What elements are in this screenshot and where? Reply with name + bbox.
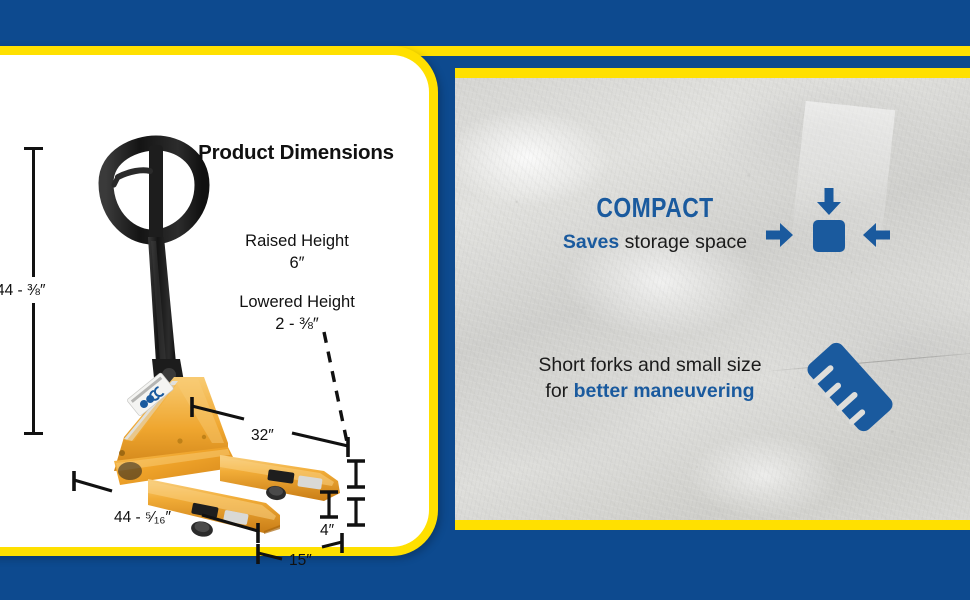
- raised-height-value: 6″: [204, 253, 390, 275]
- product-dimensions-card: 44 - ⅜″: [0, 46, 438, 556]
- feature-maneuvering-highlight: better maneuvering: [574, 380, 755, 402]
- lowered-height-value: 2 - ⅜″: [204, 314, 390, 336]
- feature-maneuvering: Short forks and small size for better ma…: [500, 352, 800, 405]
- feature-panel: [455, 68, 970, 530]
- feature-compact-subtext: Saves storage space: [510, 231, 800, 254]
- page-title: Product Dimensions: [176, 141, 416, 165]
- compact-arrows-icon: [766, 188, 890, 280]
- ruler-icon: [800, 338, 900, 436]
- dimension-label-fork-height: 4″: [320, 522, 334, 540]
- feature-compact-rest: storage space: [619, 231, 747, 253]
- height-specs: Raised Height 6″ Lowered Height 2 - ⅜″: [204, 231, 390, 336]
- feature-compact: COMPACT Saves storage space: [510, 192, 800, 254]
- concrete-background: [455, 78, 970, 520]
- infographic-banner: COMPACT Saves storage space Short forks …: [0, 0, 970, 600]
- dimension-label-overall-length: 44 - ⁵⁄₁₆″: [114, 509, 171, 527]
- raised-height-label: Raised Height: [204, 231, 390, 253]
- dimension-label-overall-width: 15″: [289, 552, 312, 570]
- dimension-label-fork-length: 32″: [251, 427, 274, 445]
- feature-maneuvering-prefix: for: [545, 380, 573, 402]
- feature-maneuvering-line2: for better maneuvering: [500, 378, 800, 404]
- feature-compact-heading: COMPACT: [536, 192, 774, 224]
- feature-compact-highlight: Saves: [563, 231, 619, 253]
- concrete-speckle-texture: [455, 78, 970, 520]
- feature-maneuvering-line1: Short forks and small size: [500, 352, 800, 378]
- lowered-height-label: Lowered Height: [204, 292, 390, 314]
- top-blue-band: [0, 0, 970, 46]
